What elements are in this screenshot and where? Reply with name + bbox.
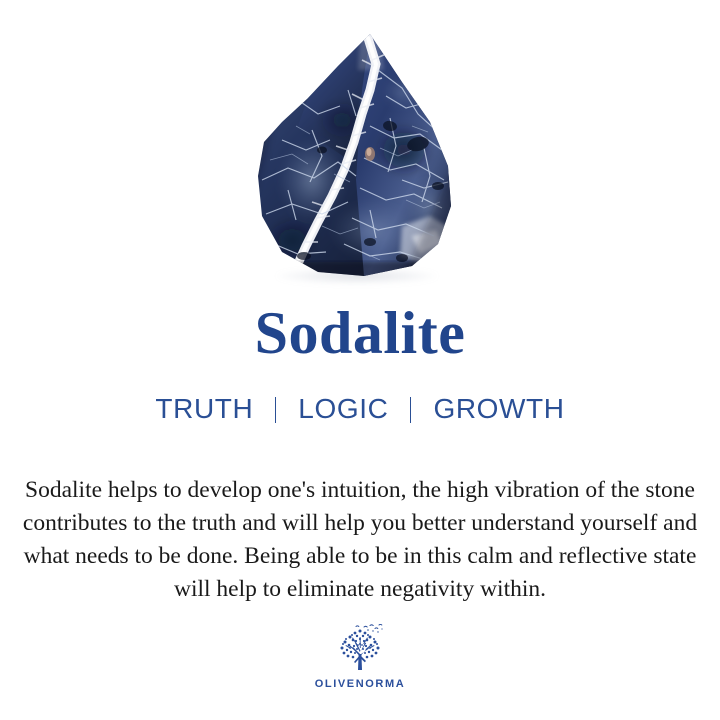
keyword-separator-2 bbox=[410, 397, 411, 423]
keyword-growth: GROWTH bbox=[433, 393, 564, 425]
page-title: Sodalite bbox=[0, 300, 720, 366]
sodalite-info-card: Sodalite TRUTH LOGIC GROWTH Sodalite hel… bbox=[0, 0, 720, 720]
tree-of-life-icon bbox=[332, 624, 388, 676]
keyword-list: TRUTH LOGIC GROWTH bbox=[0, 393, 720, 425]
keyword-truth: TRUTH bbox=[155, 393, 253, 425]
keyword-logic: LOGIC bbox=[298, 393, 388, 425]
description-text: Sodalite helps to develop one's intuitio… bbox=[22, 474, 698, 606]
brand-wordmark: OLIVENORMA bbox=[315, 678, 406, 690]
hero-image-area bbox=[0, 18, 720, 290]
keyword-separator-1 bbox=[275, 397, 276, 423]
sodalite-crystal-image bbox=[252, 30, 464, 280]
brand-logo: OLIVENORMA bbox=[0, 624, 720, 690]
sodalite-crystal-illustration bbox=[252, 30, 464, 280]
